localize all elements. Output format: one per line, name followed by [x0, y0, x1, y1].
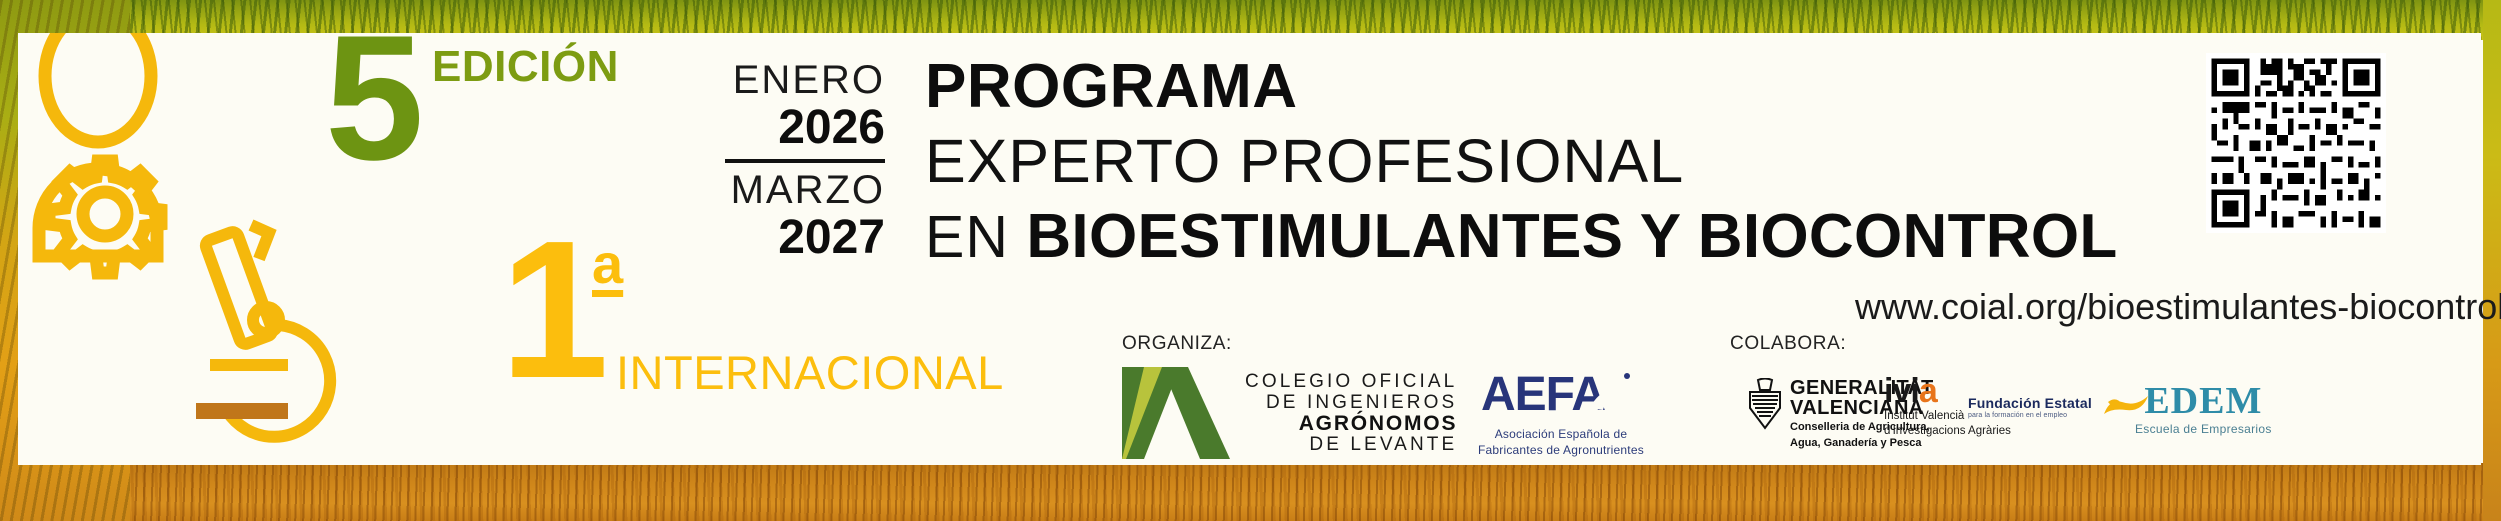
headline-block: PROGRAMA EXPERTO PROFESIONAL EN BIOESTIM… — [925, 50, 2245, 292]
date-range: ENERO 2026 MARZO 2027 — [725, 58, 885, 264]
coial-line2: DE INGENIEROS — [1245, 392, 1457, 413]
coial-line4: DE LEVANTE — [1245, 434, 1457, 455]
field-background-right — [2483, 0, 2501, 521]
gva-sub2: Agua, Ganadería y Pesca — [1790, 437, 1934, 450]
edition-block: 5 EDICIÓN — [325, 18, 655, 198]
coial-line3: AGRÓNOMOS — [1245, 413, 1457, 434]
first-ordinal: a — [592, 231, 623, 296]
date-divider — [725, 159, 885, 163]
edem-sub: Escuela de Empresarios — [2135, 422, 2272, 436]
gva-shield-icon — [1748, 378, 1782, 430]
event-banner: 5 EDICIÓN 1 a INTERNACIONAL ENERO 2026 M… — [0, 0, 2501, 521]
headline-programa: PROGRAMA — [925, 50, 2245, 124]
aefa-sub2: Fabricantes de Agronutrientes — [1478, 443, 1644, 457]
coial-line1: COLEGIO OFICIAL — [1245, 371, 1457, 392]
coial-mark-icon — [1122, 367, 1230, 459]
qr-code[interactable] — [2206, 53, 2386, 233]
fundacion-title: Fundación Estatal — [1968, 395, 2092, 411]
aefa-logo: AEFA Asociación Española de Fabricantes … — [1478, 368, 1644, 457]
edition-number: 5 — [325, 14, 420, 182]
headline-en-prefix: EN — [925, 204, 1026, 270]
end-year: 2027 — [725, 212, 885, 264]
colabora-label: COLABORA: — [1730, 333, 1846, 355]
svg-text:AEFA: AEFA — [1481, 368, 1605, 420]
headline-experto-profesional: EXPERTO PROFESIONAL — [925, 124, 2245, 198]
aefa-sub1: Asociación Española de — [1478, 427, 1644, 441]
fundacion-sub: para la formación en el empleo — [1968, 411, 2092, 420]
ivia-sub2: d'Investigacions Agràries — [1884, 424, 2011, 438]
headline-topic-line: EN BIOESTIMULANTES Y BIOCONTROL — [925, 198, 2245, 292]
coial-logo: COLEGIO OFICIAL DE INGENIEROS AGRÓNOMOS … — [1122, 367, 1457, 459]
aefa-wordmark-icon: AEFA — [1481, 368, 1641, 420]
edem-logo: EDEM Escuela de Empresarios — [2135, 382, 2272, 436]
fundacion-estatal-logo: Fundación Estatal para la formación en e… — [1968, 392, 2152, 422]
soil-background-bottom — [0, 463, 2501, 521]
website-url[interactable]: www.coial.org/bioestimulantes-biocontrol — [1855, 286, 2501, 328]
organiza-label: ORGANIZA: — [1122, 333, 1232, 355]
international-label: INTERNACIONAL — [616, 345, 1004, 400]
ivia-word-a: a — [1919, 372, 1937, 410]
ivia-word-ivi: ivi — [1884, 372, 1919, 410]
first-number: 1 — [500, 217, 603, 403]
end-month: MARZO — [725, 168, 885, 212]
edem-wordmark: EDEM — [2135, 382, 2272, 420]
start-year: 2026 — [725, 102, 885, 154]
start-month: ENERO — [725, 58, 885, 102]
headline-topic: BIOESTIMULANTES Y BIOCONTROL — [1026, 202, 2117, 271]
edition-label: EDICIÓN — [432, 42, 619, 92]
